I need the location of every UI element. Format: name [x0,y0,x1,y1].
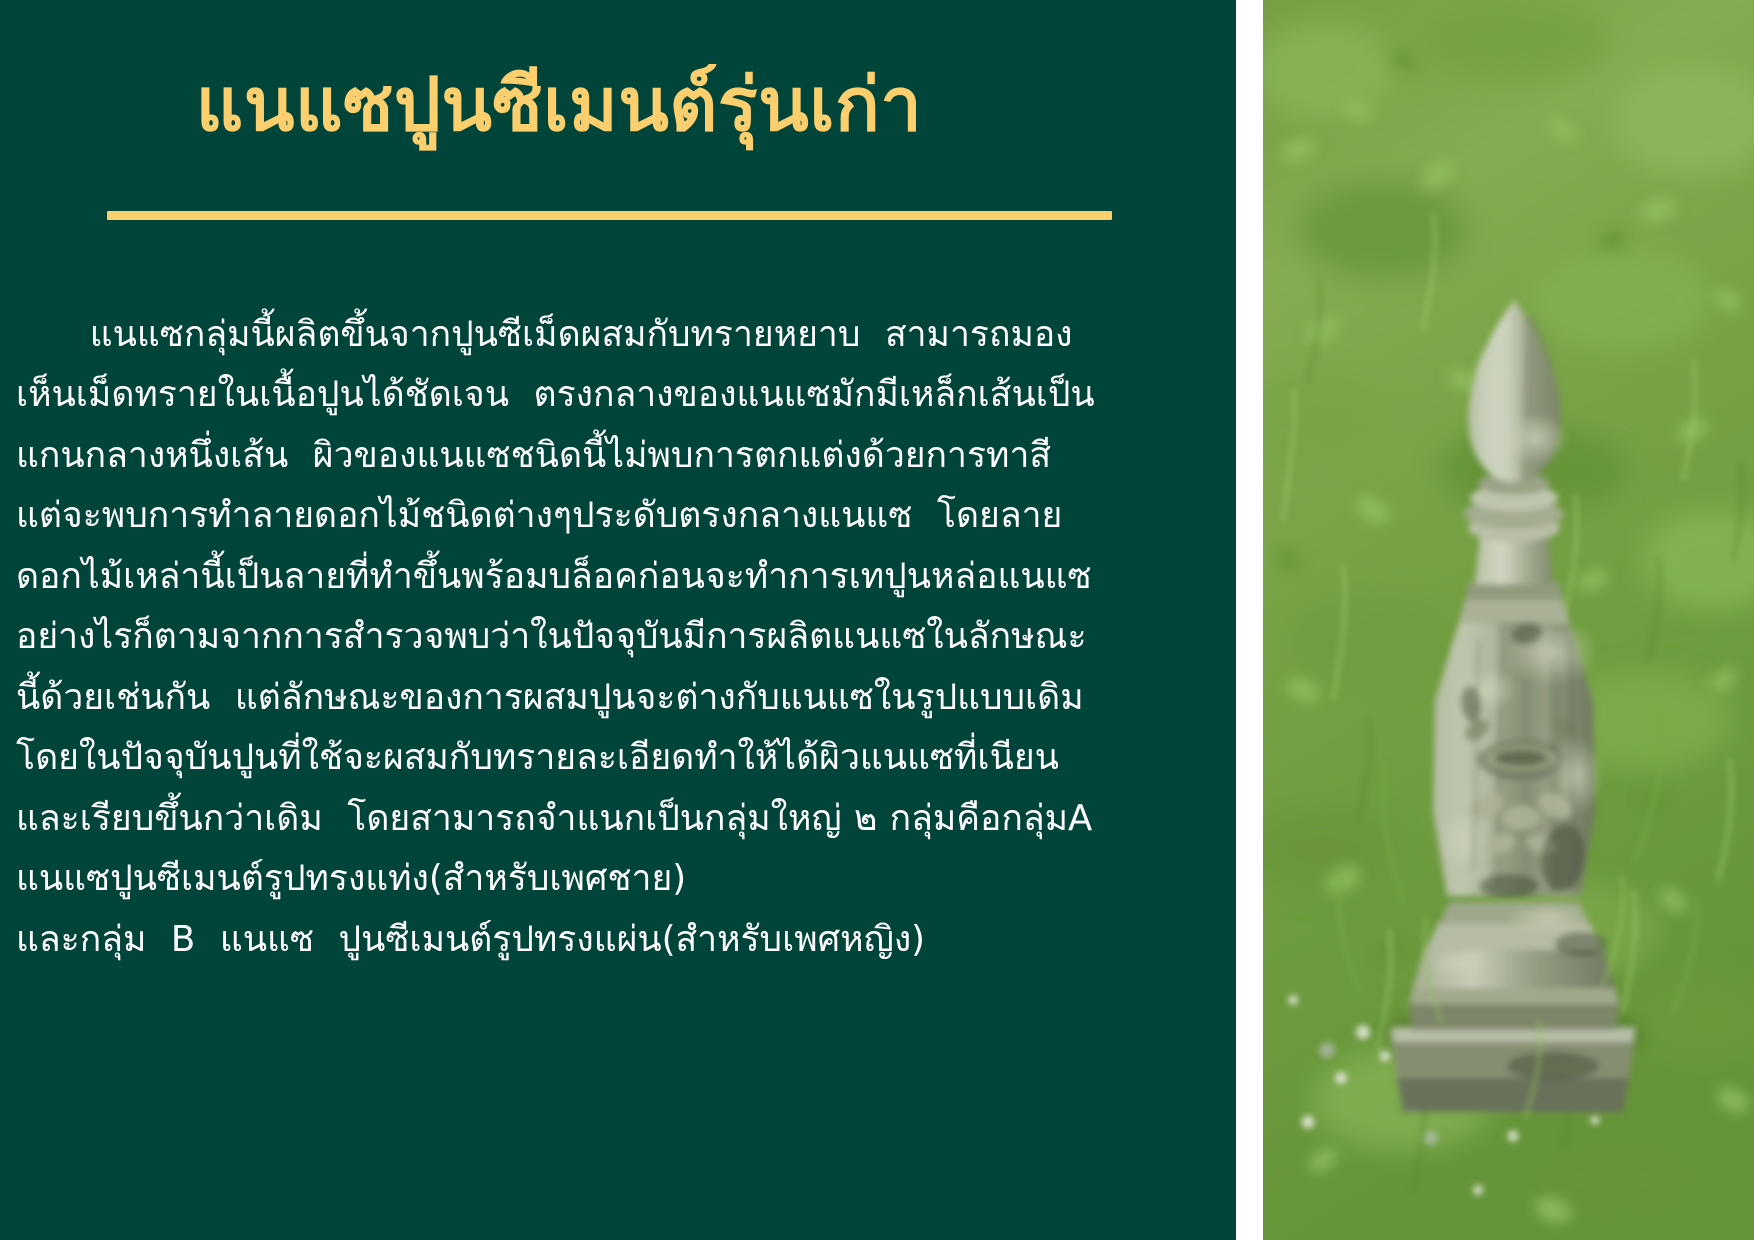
content-panel: แนแซปูนซีเมนต์รุ่นเก่า แนแซกลุ่มนี้ผลิตข… [0,0,1236,1240]
group-b-text: และกลุ่ม B แนแซ ปูนซีเมนต์รูปทรงแผ่น(สำห… [16,910,1102,971]
slide: แนแซปูนซีเมนต์รุ่นเก่า แนแซกลุ่มนี้ผลิตข… [0,0,1754,1240]
grave-marker-photo [1263,0,1754,1240]
body-paragraph: แนแซกลุ่มนี้ผลิตขึ้นจากปูนซีเม็ดผสมกับทร… [16,244,1102,1091]
title-divider [107,211,1112,220]
panel-photo-gutter [1236,0,1263,1240]
page-title: แนแซปูนซีเมนต์รุ่นเก่า [0,62,1118,149]
body-paragraph-text: แนแซกลุ่มนี้ผลิตขึ้นจากปูนซีเม็ดผสมกับทร… [16,314,1116,839]
